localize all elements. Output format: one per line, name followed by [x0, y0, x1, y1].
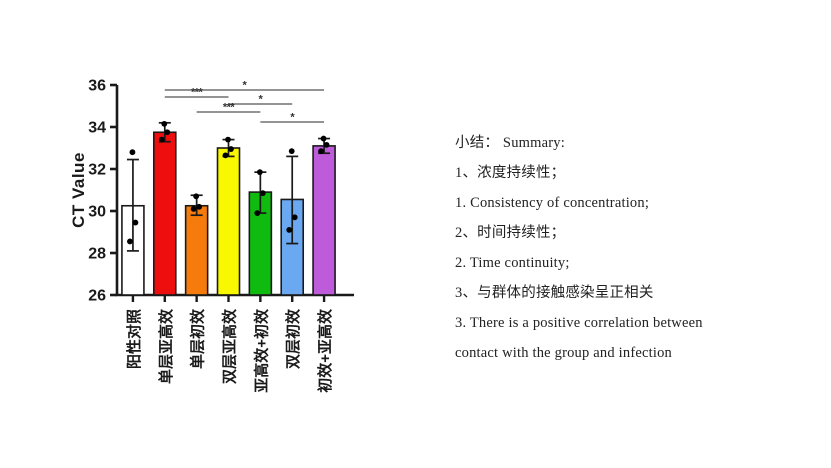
bar-6	[313, 146, 335, 295]
y-axis-tick-label: 26	[88, 288, 106, 305]
data-point-5-2	[286, 227, 292, 233]
x-axis-label-5: 双层初效	[284, 308, 302, 369]
data-point-4-0	[257, 169, 263, 175]
data-point-4-1	[260, 190, 266, 196]
summary-line-title: 小结： Summary:	[455, 128, 800, 158]
y-axis-tick-label: 32	[88, 162, 106, 179]
summary-line-2-en: 2. Time continuity;	[455, 248, 800, 278]
summary-line-1-cn: 1、浓度持续性；	[455, 158, 800, 188]
significance-label-1: ***	[191, 87, 204, 99]
summary-line-3-cn: 3、与群体的接触感染呈正相关	[455, 278, 800, 308]
data-point-0-2	[127, 239, 133, 245]
summary-line-1-en: 1. Consistency of concentration;	[455, 188, 800, 218]
summary-line-3-en: 3. There is a positive correlation betwe…	[455, 308, 800, 338]
data-point-3-0	[225, 137, 231, 143]
bar-chart-figure: 262830323436CT Value阳性对照单层亚高效单层初效双层亚高效亚高…	[0, 0, 415, 468]
y-axis-tick-label: 36	[88, 78, 106, 95]
x-axis-label-3: 双层亚高效	[221, 308, 239, 384]
data-point-1-0	[161, 121, 167, 127]
x-axis-label-1: 单层亚高效	[157, 308, 175, 384]
y-axis-tick-label: 28	[88, 246, 106, 263]
data-point-5-0	[289, 148, 295, 154]
x-axis-label-6: 初效+亚高效	[316, 308, 334, 393]
data-point-4-2	[254, 210, 260, 216]
data-point-6-2	[318, 148, 324, 154]
data-point-2-0	[193, 193, 199, 199]
summary-line-3-en-cont: contact with the group and infection	[455, 338, 800, 368]
data-point-2-2	[191, 206, 197, 212]
data-point-1-2	[159, 137, 165, 143]
ct-value-bar-chart: 262830323436CT Value阳性对照单层亚高效单层初效双层亚高效亚高…	[0, 0, 415, 468]
data-point-1-1	[164, 129, 170, 135]
summary-text-block: 小结： Summary: 1、浓度持续性； 1. Consistency of …	[455, 128, 800, 368]
x-axis-label-4: 亚高效+初效	[252, 308, 270, 393]
data-point-6-1	[324, 142, 330, 148]
x-axis-label-0: 阳性对照	[125, 309, 143, 369]
data-point-3-2	[223, 152, 229, 158]
y-axis-title: CT Value	[69, 152, 88, 228]
data-point-6-0	[321, 136, 327, 142]
data-point-3-1	[228, 146, 234, 152]
bar-3	[218, 148, 240, 295]
y-axis-tick-label: 34	[88, 120, 106, 137]
y-axis-tick-label: 30	[88, 204, 106, 221]
data-point-0-1	[133, 220, 139, 226]
data-point-2-1	[196, 204, 202, 210]
data-point-5-1	[292, 214, 298, 220]
data-point-0-0	[130, 149, 136, 155]
bar-2	[186, 206, 208, 295]
x-axis-label-2: 单层初效	[189, 308, 207, 369]
significance-label-3: ***	[223, 102, 236, 114]
summary-line-2-cn: 2、时间持续性；	[455, 218, 800, 248]
bar-1	[154, 132, 176, 295]
